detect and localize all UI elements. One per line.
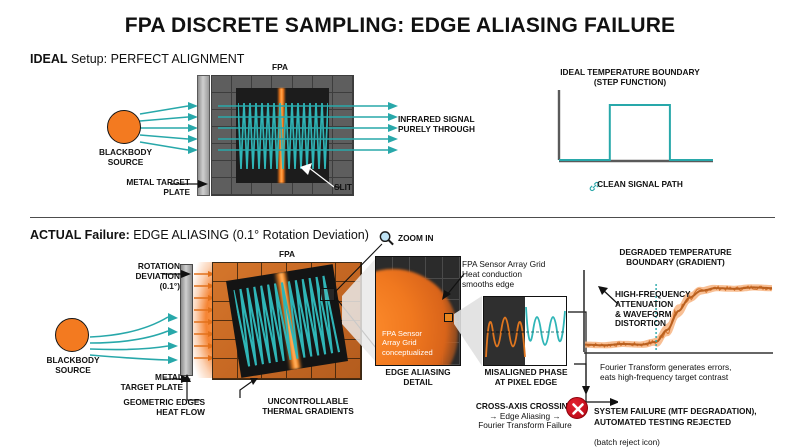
ideal-blackbody-source bbox=[107, 110, 141, 144]
misaligned-phase-waveforms bbox=[484, 297, 567, 366]
geometric-edges-leader bbox=[178, 374, 202, 402]
uncontrollable-gradients-label: UNCONTROLLABLE THERMAL GRADIENTS bbox=[243, 397, 373, 417]
x-circle-icon bbox=[566, 397, 588, 419]
ideal-chart-caption: CLEAN SIGNAL PATH bbox=[565, 180, 715, 190]
system-failure-text: SYSTEM FAILURE (MTF DEGRADATION), AUTOMA… bbox=[594, 396, 794, 447]
ideal-section-header: IDEAL Setup: PERFECT ALIGNMENT bbox=[30, 52, 244, 66]
heat-conduction-note: FPA Sensor Array Grid Heat conduction sm… bbox=[462, 259, 574, 289]
edge-aliasing-inner-label: FPA Sensor Array Grid conceptualized bbox=[382, 329, 460, 357]
fourier-note-leader bbox=[572, 362, 594, 396]
cross-axis-main: CROSS-AXIS CROSSING bbox=[476, 401, 574, 411]
ideal-infrared-label: INFRARED SIGNAL PURELY THROUGH bbox=[398, 115, 508, 135]
cross-axis-sub: → Edge Aliasing → Fourier Transform Fail… bbox=[478, 411, 572, 431]
actual-blackbody-source bbox=[55, 318, 89, 352]
misaligned-cone bbox=[452, 296, 484, 368]
zoom-in-label: ZOOM IN bbox=[398, 234, 446, 244]
ideal-header-bold: IDEAL bbox=[30, 52, 68, 66]
zoom-cone bbox=[340, 258, 378, 364]
rotation-leader bbox=[163, 268, 193, 280]
ideal-source-label: BLACKBODY SOURCE bbox=[78, 148, 173, 168]
edge-aliasing-caption: EDGE ALIASING DETAIL bbox=[372, 368, 464, 388]
misaligned-phase-caption: MISALIGNED PHASE AT PIXEL EDGE bbox=[478, 368, 574, 388]
page-title: FPA DISCRETE SAMPLING: EDGE ALIASING FAI… bbox=[0, 14, 800, 38]
section-divider bbox=[30, 217, 775, 218]
degraded-note-leader bbox=[596, 286, 620, 308]
ideal-fpa-label: FPA bbox=[255, 63, 305, 73]
actual-section-header: ACTUAL Failure: EDGE ALIASING (0.1° Rota… bbox=[30, 228, 369, 242]
actual-header-bold: ACTUAL Failure: bbox=[30, 228, 130, 242]
actual-metal-target-plate bbox=[180, 264, 193, 376]
fourier-transform-note: Fourier Transform generates errors, eats… bbox=[600, 362, 795, 383]
misaligned-phase-panel bbox=[483, 296, 567, 366]
ideal-header-rest: Setup: PERFECT ALIGNMENT bbox=[68, 52, 245, 66]
failure-main: SYSTEM FAILURE (MTF DEGRADATION), AUTOMA… bbox=[594, 406, 757, 426]
degraded-note: HIGH-FREQUENCY ATTENUATION & WAVEFORM DI… bbox=[615, 290, 735, 329]
infographic-root: FPA DISCRETE SAMPLING: EDGE ALIASING FAI… bbox=[0, 0, 800, 447]
ideal-metal-plate-leader bbox=[170, 178, 210, 192]
failure-sub: (batch reject icon) bbox=[594, 437, 660, 447]
ideal-beam-lines-through bbox=[218, 100, 398, 160]
actual-fpa-label: FPA bbox=[262, 250, 312, 260]
ideal-step-function-chart bbox=[555, 88, 715, 168]
uncontrollable-leader bbox=[236, 378, 262, 400]
ideal-slit-label: SLIT bbox=[334, 183, 374, 193]
ideal-chart-title: IDEAL TEMPERATURE BOUNDARY (STEP FUNCTIO… bbox=[535, 68, 725, 88]
ideal-slit-leader bbox=[300, 163, 340, 191]
degraded-chart-title: DEGRADED TEMPERATURE BOUNDARY (GRADIENT) bbox=[588, 248, 763, 268]
